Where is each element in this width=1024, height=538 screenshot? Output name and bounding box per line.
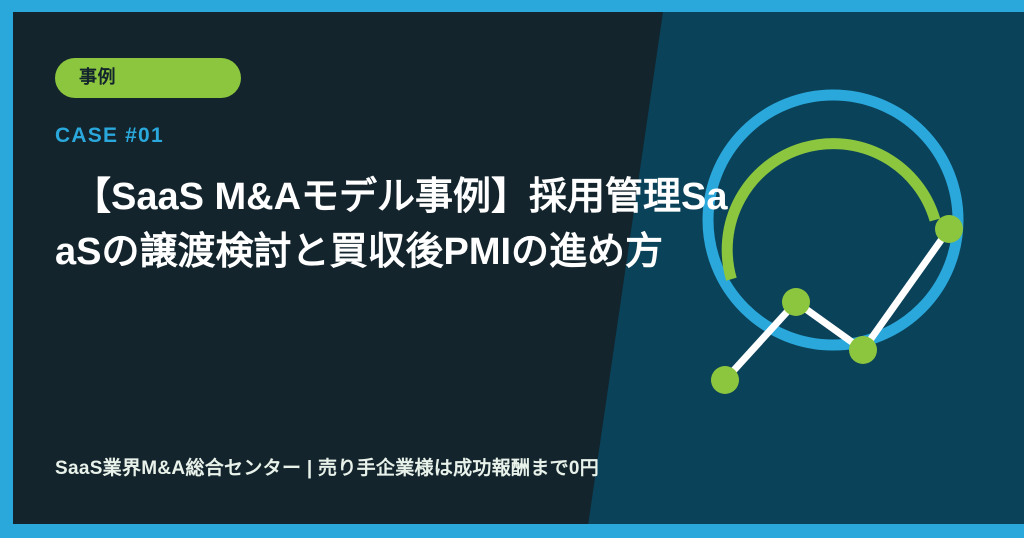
page-title-line-1: 【SaaS M&Aモデル事例】採用管理Sa (55, 170, 885, 225)
content-area: 事例 CASE #01 【SaaS M&Aモデル事例】採用管理Sa aSの譲渡検… (13, 12, 663, 524)
data-point-dot (711, 366, 739, 394)
data-point-dot (935, 215, 963, 243)
page-title: 【SaaS M&Aモデル事例】採用管理Sa aSの譲渡検討と買収後PMIの進め方 (55, 170, 885, 280)
case-number-label: CASE #01 (55, 124, 663, 148)
category-badge: 事例 (55, 58, 241, 98)
poster-canvas: 事例 CASE #01 【SaaS M&Aモデル事例】採用管理Sa aSの譲渡検… (0, 0, 1024, 538)
page-title-line-2: aSの譲渡検討と買収後PMIの進め方 (55, 225, 885, 280)
data-point-dot (782, 288, 810, 316)
footer-branding: SaaS業界M&A総合センター | 売り手企業様は成功報酬まで0円 (55, 453, 599, 480)
data-point-dot (849, 336, 877, 364)
